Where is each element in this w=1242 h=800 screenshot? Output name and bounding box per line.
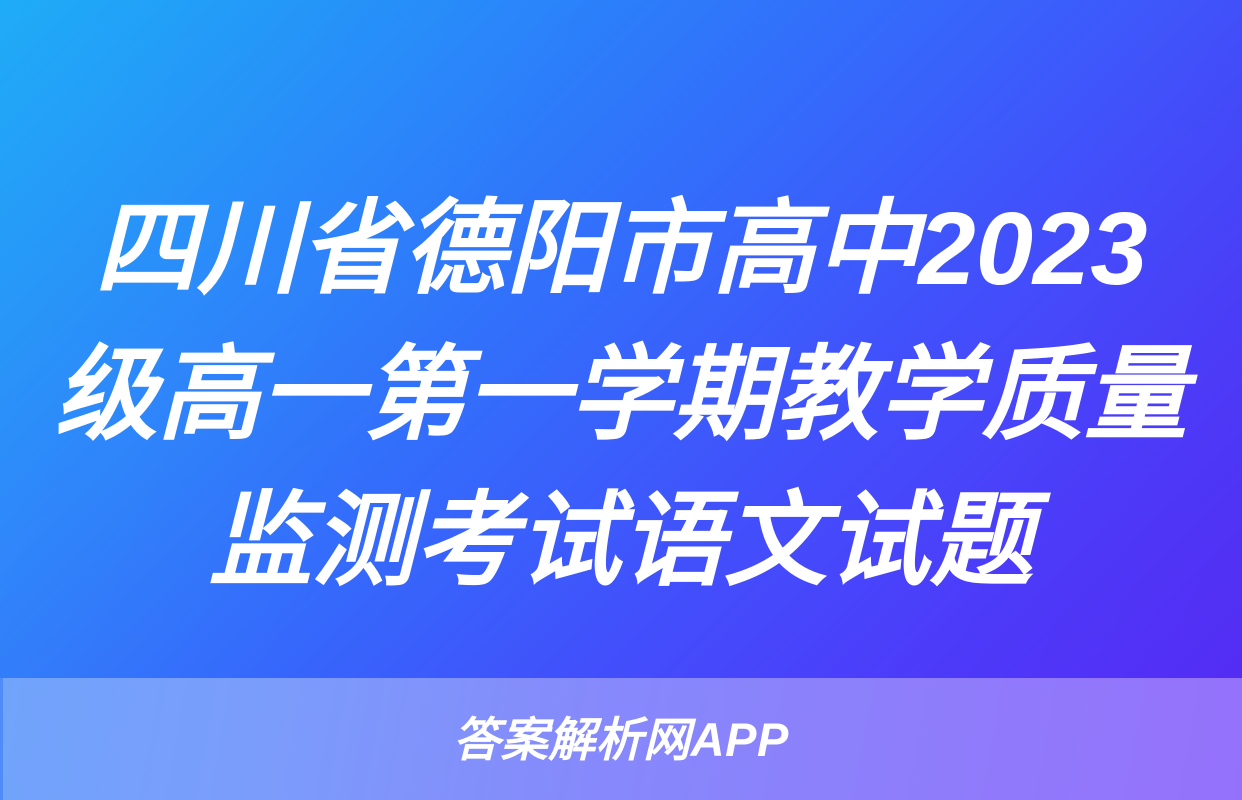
band-left-edge-accent — [0, 678, 3, 800]
title-line-3: 监测考试语文试题 — [40, 468, 1202, 614]
title-line-1: 四川省德阳市高中2023 — [40, 176, 1202, 322]
watermark-brand-label: 答案解析网APP — [453, 716, 789, 763]
watermark-band: 答案解析网APP — [0, 678, 1242, 800]
exam-cover-card: 四川省德阳市高中2023 级高一第一学期教学质量 监测考试语文试题 答案解析网A… — [0, 0, 1242, 800]
title-line-2: 级高一第一学期教学质量 — [40, 322, 1202, 468]
cover-title-block: 四川省德阳市高中2023 级高一第一学期教学质量 监测考试语文试题 — [0, 176, 1242, 614]
